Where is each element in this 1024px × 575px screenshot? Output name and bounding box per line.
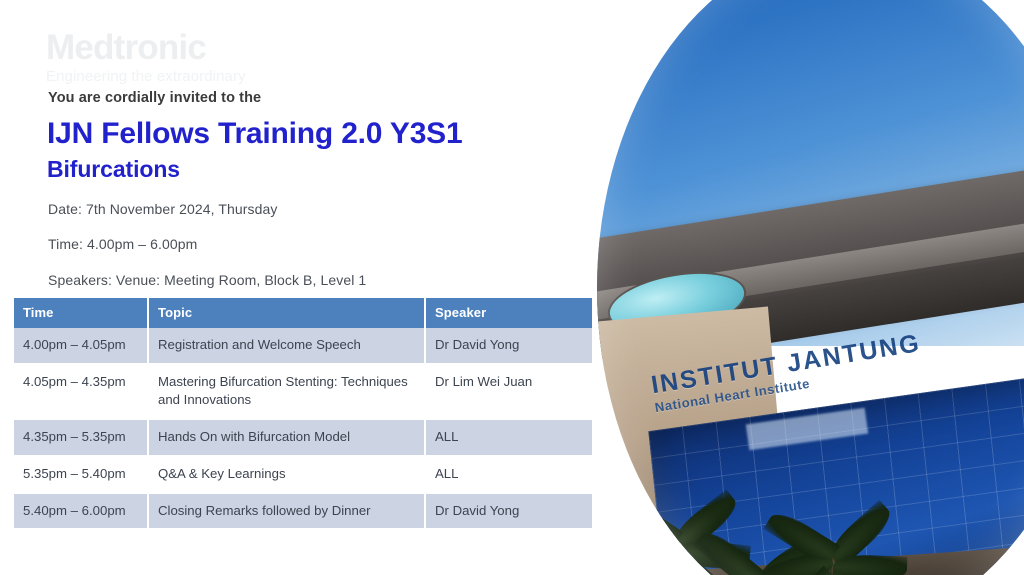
event-time: Time: 4.00pm – 6.00pm <box>48 236 197 252</box>
palm-tree <box>783 544 883 575</box>
cell-time: 5.40pm – 6.00pm <box>14 493 148 530</box>
invitation-slide: INSTITUT JANTUNG National Heart Institut… <box>0 0 1024 575</box>
table-row: 4.35pm – 5.35pm Hands On with Bifurcatio… <box>14 419 592 456</box>
column-header-speaker: Speaker <box>425 298 592 328</box>
agenda-table-body: 4.00pm – 4.05pm Registration and Welcome… <box>14 328 592 529</box>
table-row: 5.35pm – 5.40pm Q&A & Key Learnings ALL <box>14 456 592 493</box>
column-header-topic: Topic <box>148 298 425 328</box>
cell-topic: Registration and Welcome Speech <box>148 328 425 364</box>
logo-tagline: Engineering the extraordinary <box>46 69 376 84</box>
invitation-intro: You are cordially invited to the <box>48 90 261 106</box>
table-row: 4.00pm – 4.05pm Registration and Welcome… <box>14 328 592 364</box>
event-venue: Speakers: Venue: Meeting Room, Block B, … <box>48 272 366 288</box>
logo-wordmark: Medtronic <box>46 30 376 65</box>
event-date: Date: 7th November 2024, Thursday <box>48 201 278 217</box>
cell-time: 4.35pm – 5.35pm <box>14 419 148 456</box>
medtronic-logo: Medtronic Engineering the extraordinary <box>46 30 376 84</box>
agenda-table-head: Time Topic Speaker <box>14 298 592 328</box>
venue-photo-image: INSTITUT JANTUNG National Heart Institut… <box>597 0 1024 575</box>
table-row: 5.40pm – 6.00pm Closing Remarks followed… <box>14 493 592 530</box>
cell-topic: Mastering Bifurcation Stenting: Techniqu… <box>148 364 425 419</box>
cell-speaker: Dr Lim Wei Juan <box>425 364 592 419</box>
cell-topic: Closing Remarks followed by Dinner <box>148 493 425 530</box>
event-title-line-1: IJN Fellows Training 2.0 Y3S1 <box>47 118 462 150</box>
column-header-time: Time <box>14 298 148 328</box>
cell-speaker: Dr David Yong <box>425 493 592 530</box>
agenda-table: Time Topic Speaker 4.00pm – 4.05pm Regis… <box>14 298 592 530</box>
cell-time: 4.05pm – 4.35pm <box>14 364 148 419</box>
cell-topic: Q&A & Key Learnings <box>148 456 425 493</box>
table-row: 4.05pm – 4.35pm Mastering Bifurcation St… <box>14 364 592 419</box>
agenda-header-row: Time Topic Speaker <box>14 298 592 328</box>
event-title-line-2: Bifurcations <box>47 157 180 181</box>
cell-topic: Hands On with Bifurcation Model <box>148 419 425 456</box>
invitation-content: Medtronic Engineering the extraordinary … <box>0 0 600 575</box>
cell-speaker: Dr David Yong <box>425 328 592 364</box>
palm-frond <box>833 554 908 575</box>
venue-photo: INSTITUT JANTUNG National Heart Institut… <box>597 0 1024 575</box>
cell-speaker: ALL <box>425 456 592 493</box>
cell-time: 5.35pm – 5.40pm <box>14 456 148 493</box>
cell-speaker: ALL <box>425 419 592 456</box>
cell-time: 4.00pm – 4.05pm <box>14 328 148 364</box>
